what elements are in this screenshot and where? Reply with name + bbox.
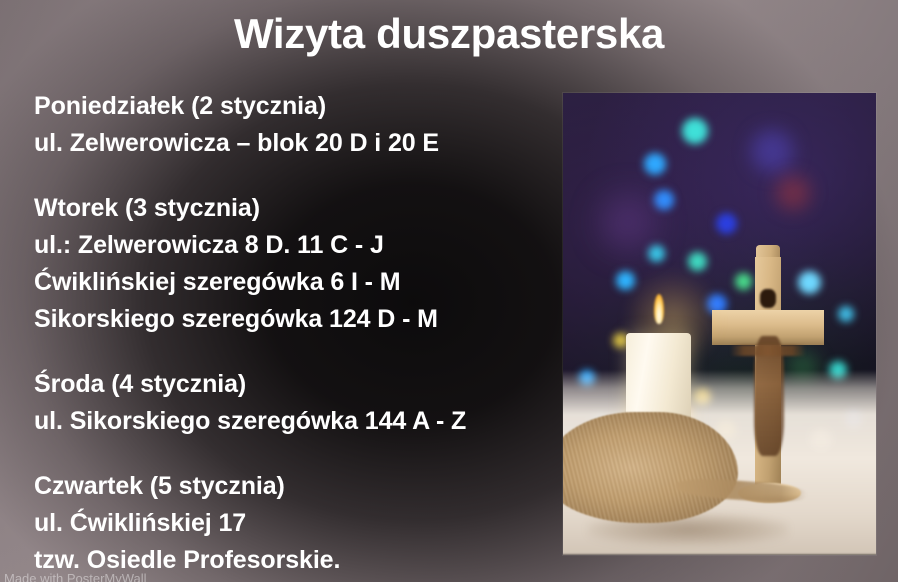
bokeh-light xyxy=(735,273,752,290)
candle-and-crucifix-photo xyxy=(563,93,876,555)
schedule-address-line: Sikorskiego szeregówka 124 D - M xyxy=(34,301,554,338)
schedule-day-label: Środa (4 stycznia) xyxy=(34,366,554,403)
page-title: Wizyta duszpasterska xyxy=(0,8,898,60)
crucifix-corpus-head xyxy=(760,289,776,307)
schedule-entry-tuesday: Wtorek (3 stycznia) ul.: Zelwerowicza 8 … xyxy=(34,190,554,338)
bokeh-light xyxy=(616,271,635,290)
schedule-address-line: ul.: Zelwerowicza 8 D. 11 C - J xyxy=(34,227,554,264)
schedule-address-line: ul. Sikorskiego szeregówka 144 A - Z xyxy=(34,403,554,440)
bokeh-light xyxy=(776,176,810,210)
schedule-address-line: ul. Ćwiklińskiej 17 xyxy=(34,505,554,542)
schedule-day-label: Poniedziałek (2 stycznia) xyxy=(34,88,554,125)
candle-flame xyxy=(654,294,664,324)
schedule-address-line: ul. Zelwerowicza – blok 20 D i 20 E xyxy=(34,125,554,162)
bokeh-light xyxy=(751,130,793,172)
photo-background xyxy=(563,93,876,555)
bokeh-light xyxy=(644,153,666,175)
aspergillum-bristles xyxy=(563,412,738,523)
schedule-day-label: Czwartek (5 stycznia) xyxy=(34,468,554,505)
bokeh-light xyxy=(601,195,655,249)
schedule-address-line: Ćwiklińskiej szeregówka 6 I - M xyxy=(34,264,554,301)
bokeh-light xyxy=(688,252,707,271)
bokeh-light xyxy=(654,190,674,210)
schedule-entry-thursday: Czwartek (5 stycznia) ul. Ćwiklińskiej 1… xyxy=(34,468,554,579)
credit-watermark: Made with PosterMyWall xyxy=(4,571,147,582)
crucifix-corpus-arms xyxy=(730,345,805,356)
slide-canvas: Wizyta duszpasterska Poniedziałek (2 sty… xyxy=(0,0,898,582)
schedule-day-label: Wtorek (3 stycznia) xyxy=(34,190,554,227)
bokeh-light xyxy=(838,306,854,322)
schedule-entry-monday: Poniedziałek (2 stycznia) ul. Zelwerowic… xyxy=(34,88,554,162)
bokeh-light xyxy=(682,118,708,144)
schedule-entry-wednesday: Środa (4 stycznia) ul. Sikorskiego szere… xyxy=(34,366,554,440)
bokeh-light xyxy=(716,213,737,234)
bokeh-light xyxy=(798,271,821,294)
schedule-text-block: Poniedziałek (2 stycznia) ul. Zelwerowic… xyxy=(34,88,554,579)
bokeh-light xyxy=(648,245,665,262)
